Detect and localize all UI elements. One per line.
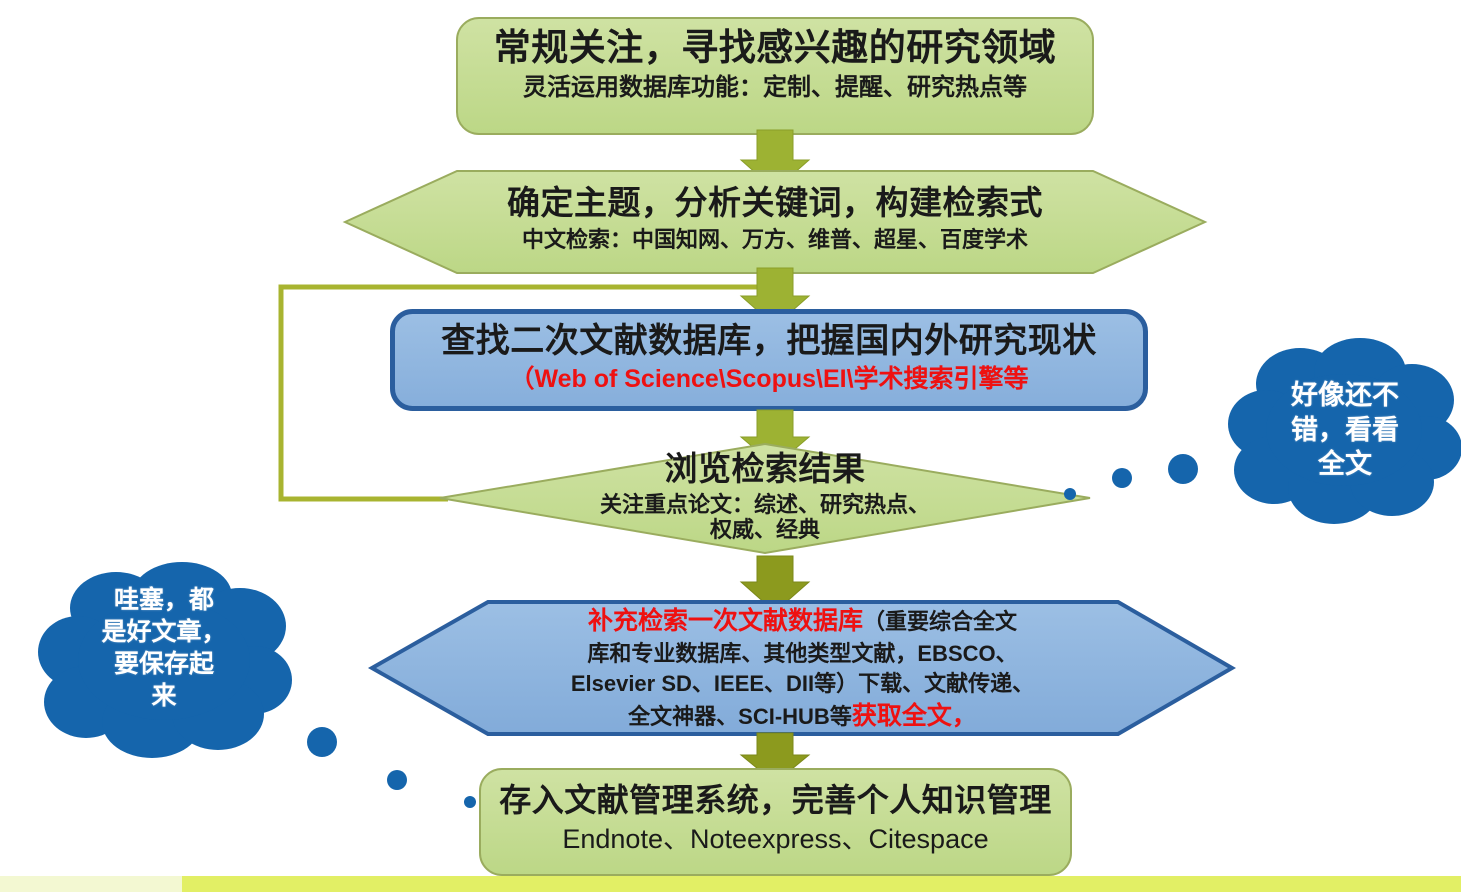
bottom-highlight-bar [180, 876, 1461, 892]
node-define-topic-shape[interactable] [345, 170, 1205, 274]
callout-wow-good-articles-shape[interactable] [36, 562, 294, 758]
callout-trail-dot-large-left [307, 727, 337, 757]
flowchart-canvas: 好像还不 错，看看 全文 哇塞，都 是好文章， 要保存起 来 [0, 0, 1461, 892]
callout-trail-dot-large-right [1168, 454, 1198, 484]
callout-trail-dot-medium-left [387, 770, 407, 790]
bottom-highlight-bar-left-fade [0, 876, 182, 892]
node-routine-attention-shape[interactable] [455, 16, 1095, 136]
node-primary-db-shape[interactable] [370, 599, 1235, 737]
callout-looks-good-shape[interactable] [1226, 338, 1461, 524]
callout-trail-dot-small-left [464, 796, 476, 808]
callout-trail-dot-medium-right [1112, 468, 1132, 488]
node-reference-manager-shape[interactable] [478, 767, 1073, 877]
node-secondary-db-shape[interactable] [390, 309, 1148, 411]
callout-trail-dot-small-right [1064, 488, 1076, 500]
node-browse-results-shape[interactable] [440, 443, 1090, 555]
